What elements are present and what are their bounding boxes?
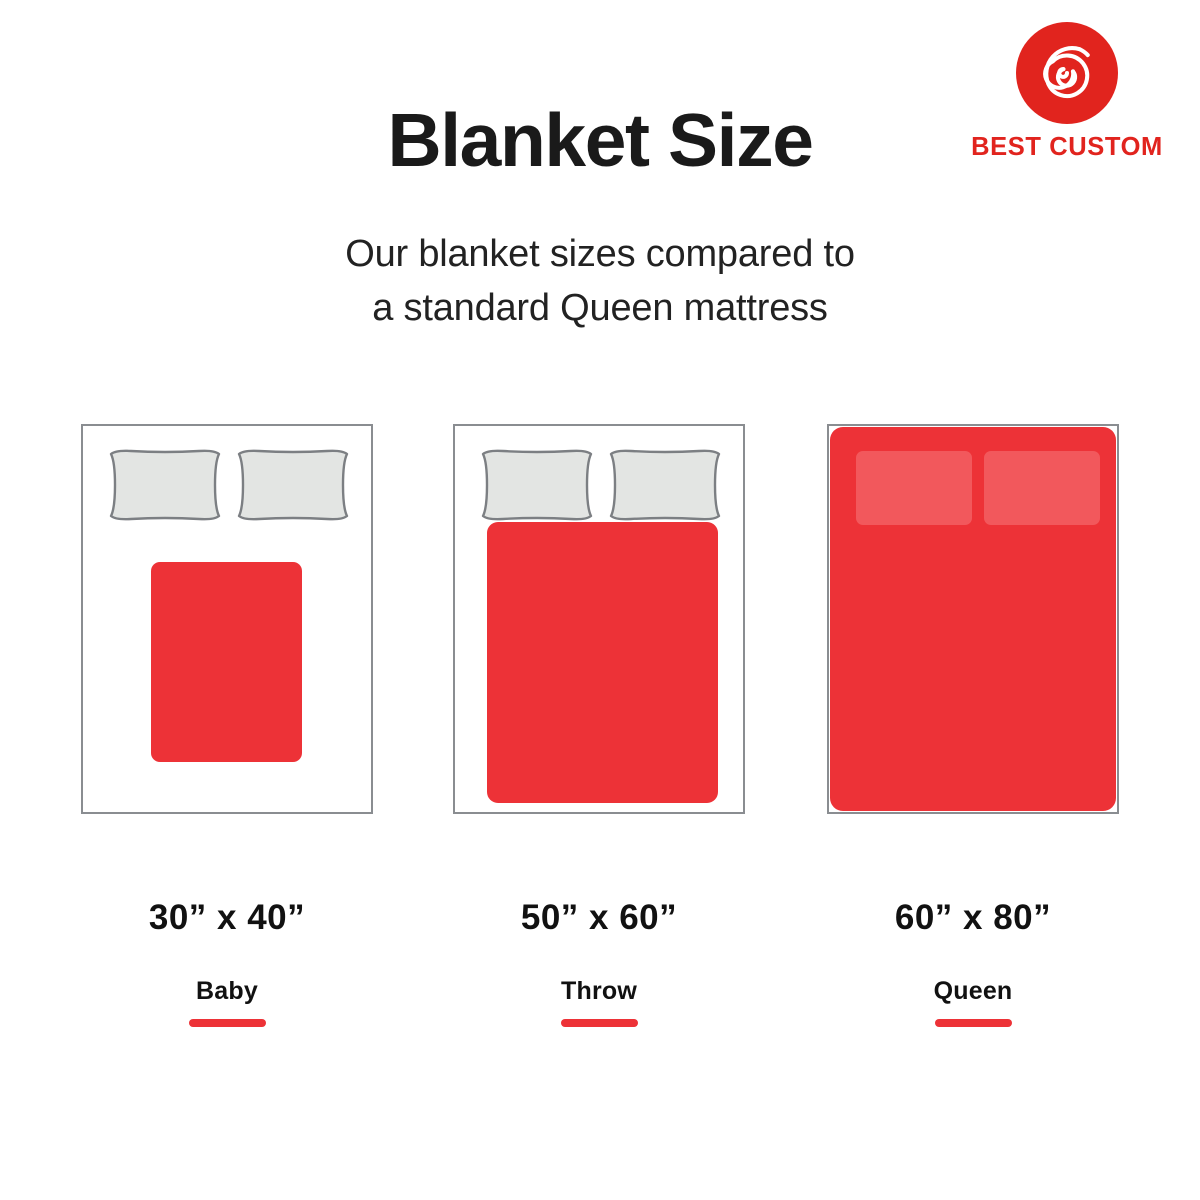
bed-diagram-queen xyxy=(827,424,1119,814)
blanket-baby xyxy=(151,562,302,762)
pillow-left xyxy=(856,451,972,525)
size-name-label: Queen xyxy=(827,977,1119,1006)
caption-row: 30” x 40” Baby 50” x 60” Throw 60” x 80”… xyxy=(0,898,1200,1038)
page-subtitle: Our blanket sizes compared to a standard… xyxy=(0,228,1200,336)
pillow-right xyxy=(984,451,1100,525)
fingerprint-spiral-icon xyxy=(1028,34,1106,112)
page-title: Blanket Size xyxy=(0,102,1200,179)
dimensions-label: 60” x 80” xyxy=(827,898,1119,938)
size-name-label: Throw xyxy=(453,977,745,1006)
subtitle-line-2: a standard Queen mattress xyxy=(0,282,1200,336)
infographic-page: BEST CUSTOM Blanket Size Our blanket siz… xyxy=(0,0,1200,1200)
size-name-label: Baby xyxy=(81,977,373,1006)
pillow-right xyxy=(607,448,723,522)
bed-diagram-baby xyxy=(81,424,373,814)
pillow-left xyxy=(107,448,223,522)
pillow-right xyxy=(235,448,351,522)
caption-throw: 50” x 60” Throw xyxy=(453,898,745,1027)
bed-diagram-throw xyxy=(453,424,745,814)
blanket-queen xyxy=(830,427,1116,811)
bed-diagram-row xyxy=(0,424,1200,814)
caption-baby: 30” x 40” Baby xyxy=(81,898,373,1027)
subtitle-line-1: Our blanket sizes compared to xyxy=(0,228,1200,282)
accent-underline xyxy=(935,1019,1012,1027)
accent-underline xyxy=(189,1019,266,1027)
caption-queen: 60” x 80” Queen xyxy=(827,898,1119,1027)
pillow-left xyxy=(479,448,595,522)
dimensions-label: 50” x 60” xyxy=(453,898,745,938)
blanket-throw xyxy=(487,522,718,803)
accent-underline xyxy=(561,1019,638,1027)
dimensions-label: 30” x 40” xyxy=(81,898,373,938)
